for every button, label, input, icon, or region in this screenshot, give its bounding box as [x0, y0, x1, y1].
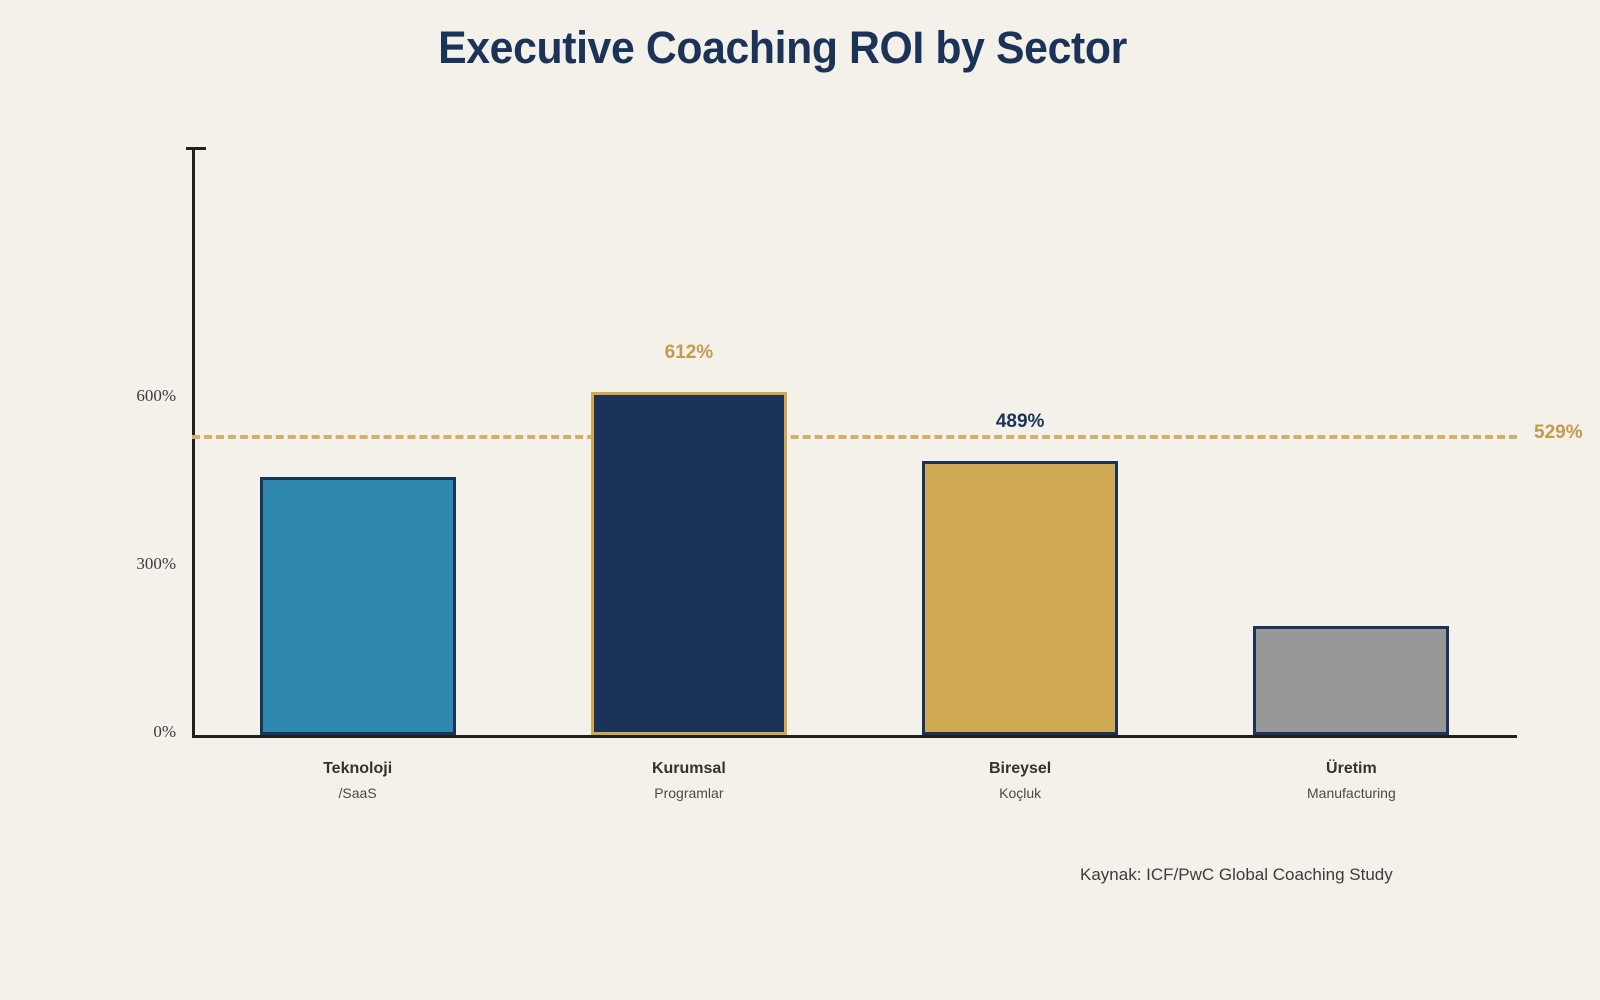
bar-group — [1253, 566, 1449, 735]
bar-group: 612% — [591, 332, 787, 735]
category-sublabel: Koçluk — [880, 785, 1160, 801]
category-label: Teknoloji — [218, 760, 498, 778]
chart-title: Executive Coaching ROI by Sector — [39, 22, 1526, 74]
bar-value-label: 612% — [591, 342, 787, 364]
bar-group — [260, 417, 456, 735]
category-label: Bireysel — [880, 760, 1160, 778]
bar-kurumsal[interactable] — [591, 392, 787, 735]
source-note: Kaynak: ICF/PwC Global Coaching Study — [1080, 865, 1393, 885]
plot-area: 612%489% — [192, 148, 1517, 735]
category-label: Kurumsal — [549, 760, 829, 778]
category-sublabel: /SaaS — [218, 785, 498, 801]
category-label: Üretim — [1211, 760, 1491, 778]
y-axis-tick-label: 300% — [56, 554, 176, 574]
bar-group: 489% — [922, 401, 1118, 735]
y-axis-tick-label: 0% — [56, 722, 176, 742]
bar-value-label: 489% — [922, 411, 1118, 433]
bar-bireysel[interactable] — [922, 461, 1118, 735]
y-axis-tick-label: 600% — [56, 386, 176, 406]
reference-line-label: 529% — [1534, 422, 1583, 444]
chart-canvas: Executive Coaching ROI by Sector 0%300%6… — [0, 0, 1600, 1000]
category-sublabel: Manufacturing — [1211, 785, 1491, 801]
category-sublabel: Programlar — [549, 785, 829, 801]
bar-üretim[interactable] — [1253, 626, 1449, 735]
bar-teknoloji[interactable] — [260, 477, 456, 735]
x-axis-spine — [192, 735, 1517, 738]
